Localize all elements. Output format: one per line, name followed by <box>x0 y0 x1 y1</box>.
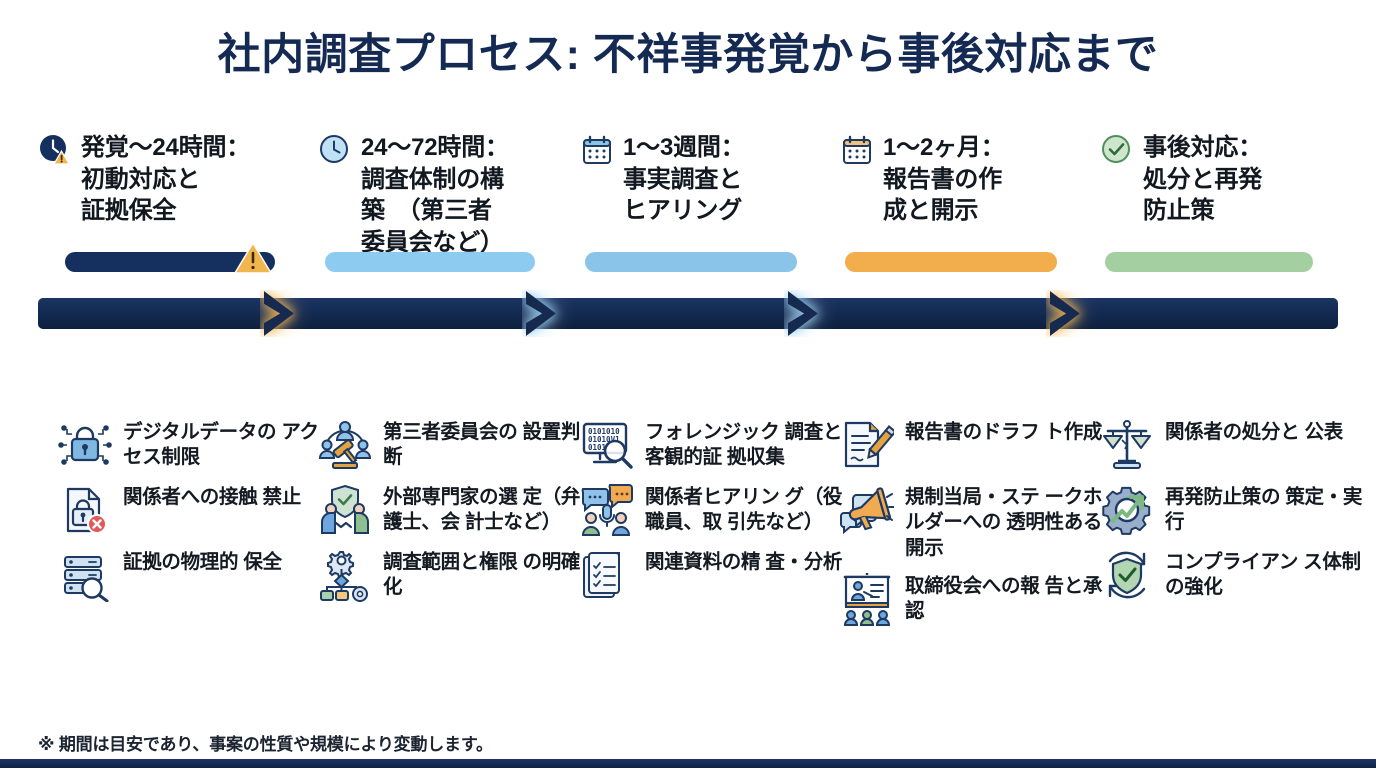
phase-1-header: 発覚〜24時間：初動対応と 証拠保全 <box>38 132 308 227</box>
phase-1-period: 発覚〜24時間： <box>81 132 250 164</box>
phase-2-detail: 調査体制の構 築 （第三者 委員会など） <box>361 166 504 256</box>
bottom-rule <box>0 759 1376 768</box>
check-circle-icon <box>1100 133 1134 167</box>
shield-refresh-check-icon <box>1100 548 1154 602</box>
workflow-gear-icon <box>318 548 372 602</box>
timeline-arrow-2 <box>522 290 580 337</box>
item-label: 関係者ヒアリン グ（役職員、取 引先など） <box>645 483 848 536</box>
phase-2-progress-bar <box>325 252 535 272</box>
list-item: 証拠の物理的 保全 <box>58 548 326 602</box>
cyber-lock-icon <box>58 418 112 472</box>
footnote: ※ 期間は目安であり、事案の性質や規模により変動します。 <box>38 730 493 755</box>
list-item: 第三者委員会の 設置判断 <box>318 418 586 472</box>
phase-4-title: 1〜2ヶ月：報告書の作 成と開示 <box>883 132 1005 227</box>
phase-3-period: 1〜3週間： <box>623 132 745 164</box>
timeline-arrow-1 <box>260 290 318 337</box>
phase-1: 発覚〜24時間：初動対応と 証拠保全 <box>38 132 308 227</box>
item-label: 調査範囲と権限 の明確化 <box>383 548 586 601</box>
timeline-arrow-band <box>38 290 1338 337</box>
list-item: 関係者への接触 禁止 <box>58 483 326 537</box>
item-column-1: デジタルデータの アクセス制限 関係者への接触 禁止 <box>58 418 326 613</box>
list-item: 規制当局・ステ ークホルダーへの 透明性ある開示 <box>840 483 1108 561</box>
item-label: 証拠の物理的 保全 <box>123 548 282 575</box>
infographic-canvas: 社内調査プロセス: 不祥事発覚から事後対応まで 発覚〜24時間：初動対応と 証拠… <box>0 0 1376 768</box>
list-item: 関連資料の精 査・分析 <box>580 548 848 602</box>
phase-5-progress-bar <box>1105 252 1313 272</box>
item-label: 再発防止策の 策定・実行 <box>1165 483 1368 536</box>
phase-3-progress-bar <box>585 252 797 272</box>
phase-4: 1〜2ヶ月：報告書の作 成と開示 <box>840 132 1110 227</box>
document-pencil-icon <box>840 418 894 472</box>
phase-5-period: 事後対応： <box>1143 132 1262 164</box>
list-item: 調査範囲と権限 の明確化 <box>318 548 586 602</box>
item-label: 取締役会への報 告と承認 <box>905 572 1108 625</box>
item-label: 関係者の処分と 公表 <box>1165 418 1343 445</box>
list-item: デジタルデータの アクセス制限 <box>58 418 326 472</box>
list-item: 再発防止策の 策定・実行 <box>1100 483 1368 537</box>
phase-5-title: 事後対応：処分と再発 防止策 <box>1143 132 1262 227</box>
phase-2: 24〜72時間：調査体制の構 築 （第三者 委員会など） <box>318 132 588 259</box>
list-item: コンプライアン ス体制の強化 <box>1100 548 1368 602</box>
phase-2-period: 24〜72時間： <box>361 132 509 164</box>
phase-1-detail: 初動対応と 証拠保全 <box>81 166 200 225</box>
phase-5: 事後対応：処分と再発 防止策 <box>1100 132 1370 227</box>
document-checklist-icon <box>580 548 634 602</box>
item-label: デジタルデータの アクセス制限 <box>123 418 326 471</box>
clock-icon <box>318 133 352 167</box>
item-label: フォレンジック 調査と客観的証 拠収集 <box>645 418 848 471</box>
timeline-bar <box>38 298 1338 329</box>
phase-3-title: 1〜3週間：事実調査と ヒアリング <box>623 132 745 227</box>
document-lock-blocked-icon <box>58 483 112 537</box>
scales-of-justice-icon <box>1100 418 1154 472</box>
clock-alert-icon <box>38 133 72 167</box>
item-column-4: 報告書のドラフ ト作成 規制当局・ステ ークホルダーへの 透明性ある <box>840 418 1108 637</box>
megaphone-announcement-icon <box>840 483 894 537</box>
presentation-board-icon <box>840 572 894 626</box>
phase-1-title: 発覚〜24時間：初動対応と 証拠保全 <box>81 132 250 227</box>
timeline-arrow-4 <box>1046 290 1104 337</box>
gear-growth-arrow-icon <box>1100 483 1154 537</box>
item-label: 関連資料の精 査・分析 <box>645 548 842 575</box>
committee-gavel-icon <box>318 418 372 472</box>
phase-4-period: 1〜2ヶ月： <box>883 132 1005 164</box>
calendar-blue-icon <box>580 133 614 167</box>
list-item: 0101010 01010V1 0101 フォレンジック 調査と客観的証 拠収集 <box>580 418 848 472</box>
item-column-2: 第三者委員会の 設置判断 外部専門家の選 定（弁護士、会 計士など） <box>318 418 586 613</box>
server-search-icon <box>58 548 112 602</box>
phase-4-detail: 報告書の作 成と開示 <box>883 166 1002 225</box>
item-column-5: 関係者の処分と 公表 再発防止策の 策定・実行 <box>1100 418 1368 613</box>
list-item: 関係者の処分と 公表 <box>1100 418 1368 472</box>
item-label: 報告書のドラフ ト作成 <box>905 418 1102 445</box>
item-label: コンプライアン ス体制の強化 <box>1165 548 1368 601</box>
calendar-orange-icon <box>840 133 874 167</box>
item-label: 規制当局・ステ ークホルダーへの 透明性ある開示 <box>905 483 1108 561</box>
list-item: 報告書のドラフ ト作成 <box>840 418 1108 472</box>
warning-triangle-icon <box>233 240 273 276</box>
timeline-arrow-3 <box>784 290 842 337</box>
item-column-3: 0101010 01010V1 0101 フォレンジック 調査と客観的証 拠収集 <box>580 418 848 613</box>
interview-speech-icon <box>580 483 634 537</box>
item-label: 第三者委員会の 設置判断 <box>383 418 586 471</box>
list-item: 外部専門家の選 定（弁護士、会 計士など） <box>318 483 586 537</box>
phase-3: 1〜3週間：事実調査と ヒアリング <box>580 132 850 227</box>
phase-2-title: 24〜72時間：調査体制の構 築 （第三者 委員会など） <box>361 132 509 259</box>
phase-5-detail: 処分と再発 防止策 <box>1143 166 1262 225</box>
phase-5-header: 事後対応：処分と再発 防止策 <box>1100 132 1370 227</box>
phase-3-detail: 事実調査と ヒアリング <box>623 166 742 225</box>
phase-4-progress-bar <box>845 252 1057 272</box>
phase-4-header: 1〜2ヶ月：報告書の作 成と開示 <box>840 132 1110 227</box>
forensic-monitor-search-icon: 0101010 01010V1 0101 <box>580 418 634 472</box>
list-item: 関係者ヒアリン グ（役職員、取 引先など） <box>580 483 848 537</box>
phase-3-header: 1〜3週間：事実調査と ヒアリング <box>580 132 850 227</box>
item-label: 関係者への接触 禁止 <box>123 483 301 510</box>
list-item: 取締役会への報 告と承認 <box>840 572 1108 626</box>
page-title: 社内調査プロセス: 不祥事発覚から事後対応まで <box>0 20 1376 82</box>
phase-2-header: 24〜72時間：調査体制の構 築 （第三者 委員会など） <box>318 132 588 259</box>
item-label: 外部専門家の選 定（弁護士、会 計士など） <box>383 483 586 536</box>
handshake-shield-icon <box>318 483 372 537</box>
